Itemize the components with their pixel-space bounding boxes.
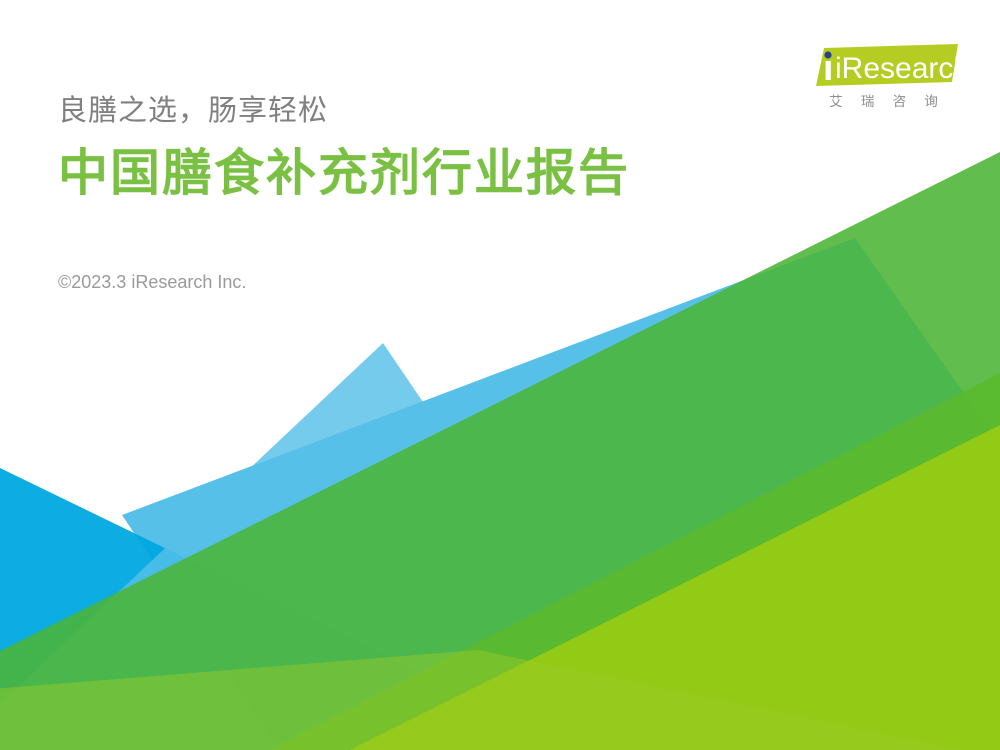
logo-wordmark: iResearch <box>835 52 966 85</box>
logo-i-dot-icon <box>824 51 831 58</box>
cover-subtitle: 良膳之选，肠享轻松 <box>58 88 838 132</box>
logo-badge-icon: iResearch <box>806 44 966 90</box>
report-cover-slide: iResearch 艾 瑞 咨 询 良膳之选，肠享轻松 中国膳食补充剂行业报告 … <box>0 0 1000 750</box>
logo-mark: iResearch <box>806 44 966 88</box>
copyright-notice: ©2023.3 iResearch Inc. <box>58 272 246 293</box>
cover-text-block: 良膳之选，肠享轻松 中国膳食补充剂行业报告 <box>58 88 838 204</box>
logo-i-stem-icon <box>826 61 831 80</box>
cover-title: 中国膳食补充剂行业报告 <box>58 142 838 204</box>
